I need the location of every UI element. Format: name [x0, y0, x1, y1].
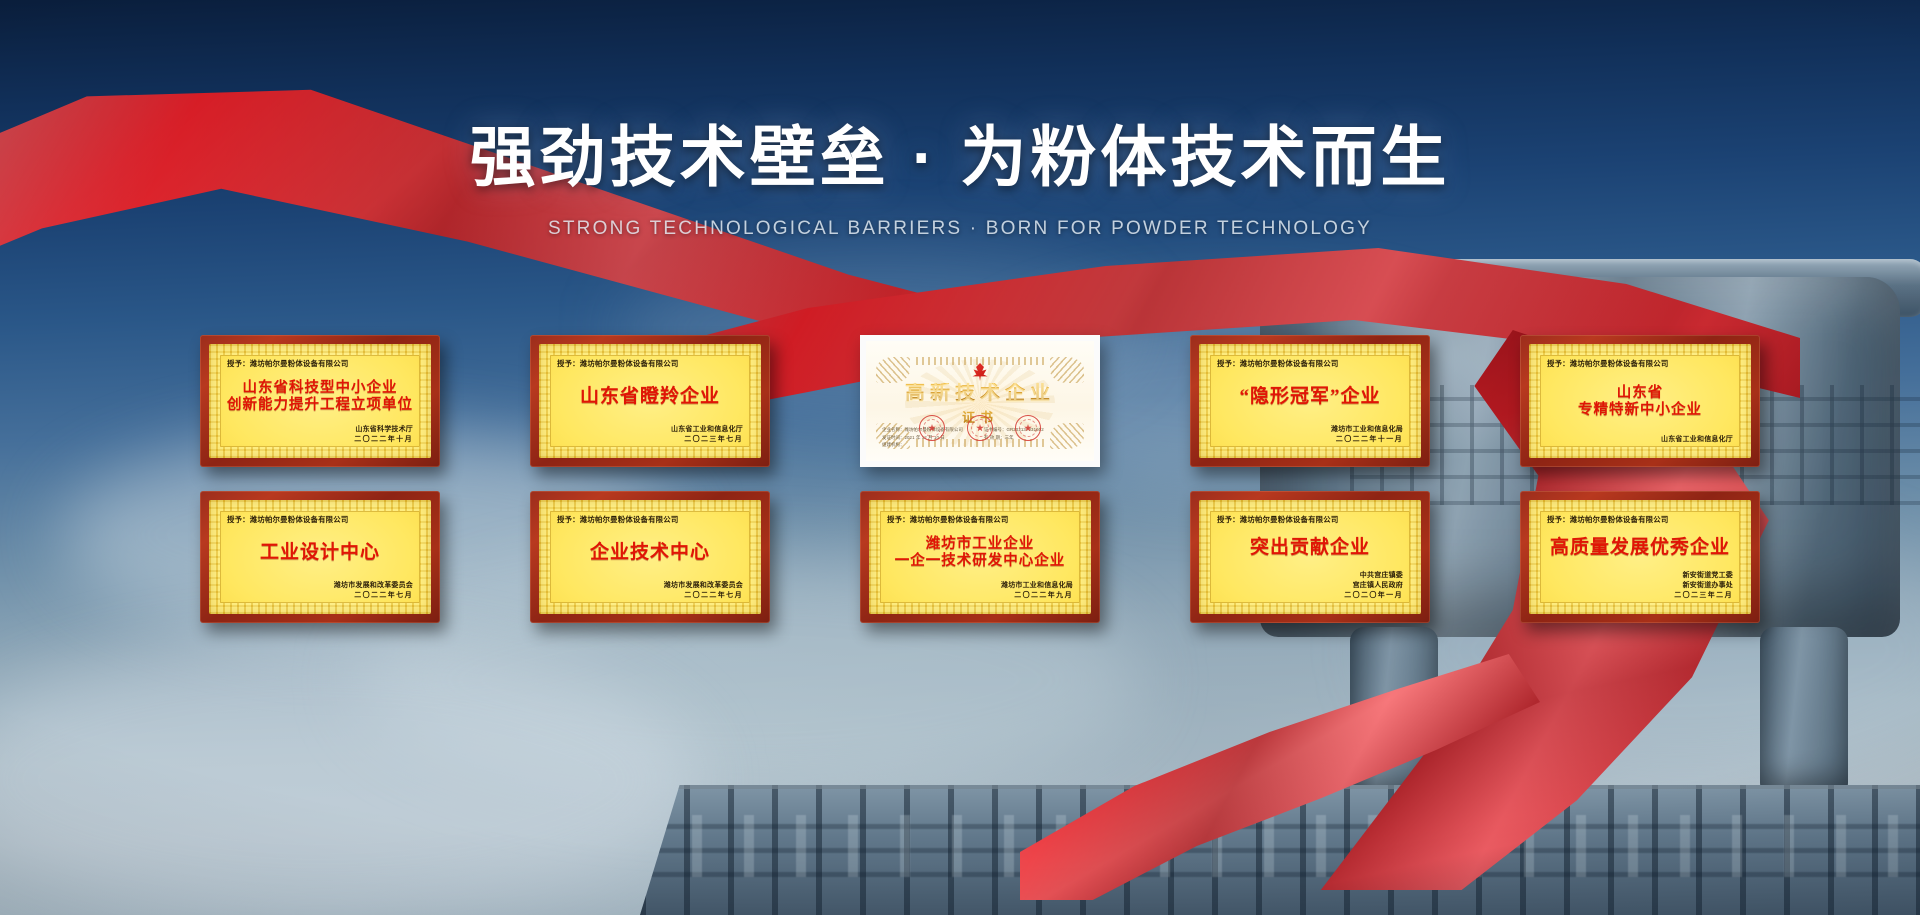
- plaque-date: 二〇二〇年一月: [1217, 591, 1403, 601]
- plaque-plate: 授予：潍坊帕尔曼粉体设备有限公司高质量发展优秀企业新安街道党工委新安街道办事处二…: [1529, 500, 1751, 614]
- plaque-grant-line: 授予：潍坊帕尔曼粉体设备有限公司: [887, 514, 1073, 525]
- plaque-plate: 授予：潍坊帕尔曼粉体设备有限公司企业技术中心潍坊市发展和改革委员会二〇二二年七月: [539, 500, 761, 614]
- plaque-issuer-line: 山东省工业和信息化厅: [557, 425, 743, 435]
- plaque-title-line1: 山东省科技型中小企业: [243, 380, 398, 396]
- plaque-title-line1: “隐形冠军”企业: [1239, 386, 1380, 407]
- award-slot: 授予：潍坊帕尔曼粉体设备有限公司工业设计中心潍坊市发展和改革委员会二〇二二年七月: [200, 491, 440, 623]
- certificate-seals: [866, 415, 1094, 441]
- cloud-shape: [0, 640, 700, 915]
- hero-banner: 强劲技术壁垒 · 为粉体技术而生 STRONG TECHNOLOGICAL BA…: [0, 0, 1920, 915]
- plaque-issuer: 中共宫庄镇委宫庄镇人民政府二〇二〇年一月: [1217, 571, 1403, 601]
- plaque-grant-line: 授予：潍坊帕尔曼粉体设备有限公司: [1217, 514, 1403, 525]
- plaque-date: 二〇二二年九月: [887, 591, 1073, 601]
- award-plaque[interactable]: 授予：潍坊帕尔曼粉体设备有限公司“隐形冠军”企业潍坊市工业和信息化局二〇二二年十…: [1190, 335, 1430, 467]
- plaque-issuer: 新安街道党工委新安街道办事处二〇二三年二月: [1547, 571, 1733, 601]
- plaque-date: 二〇二三年二月: [1547, 591, 1733, 601]
- plaque-issuer: 山东省科学技术厅二〇二二年十月: [227, 425, 413, 445]
- plaque-title: 山东省瞪羚企业: [557, 386, 743, 408]
- plaque-date: 二〇二三年七月: [557, 435, 743, 445]
- plaque-title: 高质量发展优秀企业: [1547, 537, 1733, 559]
- ding-leg: [1760, 627, 1848, 797]
- award-plaque[interactable]: 授予：潍坊帕尔曼粉体设备有限公司山东省科技型中小企业创新能力提升工程立项单位山东…: [200, 335, 440, 467]
- plaque-date: 二〇二二年十月: [227, 435, 413, 445]
- plaque-issuer-line: 新安街道办事处: [1547, 581, 1733, 591]
- plaque-title-line2: 创新能力提升工程立项单位: [227, 397, 413, 414]
- plaque-title: 山东省专精特新中小企业: [1547, 385, 1733, 419]
- award-slot: 授予：潍坊帕尔曼粉体设备有限公司高质量发展优秀企业新安街道党工委新安街道办事处二…: [1520, 491, 1760, 623]
- plaque-title: 潍坊市工业企业一企一技术研发中心企业: [887, 536, 1073, 570]
- awards-row-bottom: 授予：潍坊帕尔曼粉体设备有限公司工业设计中心潍坊市发展和改革委员会二〇二二年七月…: [200, 491, 1760, 623]
- award-slot: 授予：潍坊帕尔曼粉体设备有限公司潍坊市工业企业一企一技术研发中心企业潍坊市工业和…: [860, 491, 1100, 623]
- plaque-title-line1: 山东省: [1617, 385, 1664, 401]
- plaque-plate: 授予：潍坊帕尔曼粉体设备有限公司“隐形冠军”企业潍坊市工业和信息化局二〇二二年十…: [1199, 344, 1421, 458]
- corner-ornament-icon: [1050, 357, 1084, 383]
- plaque-issuer-line: 山东省工业和信息化厅: [1547, 435, 1733, 445]
- plaque-title: “隐形冠军”企业: [1217, 386, 1403, 408]
- plaque-date: 二〇二二年十一月: [1217, 435, 1403, 445]
- plaque-issuer: 潍坊市发展和改革委员会二〇二二年七月: [557, 581, 743, 601]
- stone-plinth: [640, 785, 1920, 915]
- plaque-grant-line: 授予：潍坊帕尔曼粉体设备有限公司: [227, 514, 413, 525]
- certificate-field: [984, 442, 1078, 449]
- plaque-plate: 授予：潍坊帕尔曼粉体设备有限公司潍坊市工业企业一企一技术研发中心企业潍坊市工业和…: [869, 500, 1091, 614]
- plaque-plate: 授予：潍坊帕尔曼粉体设备有限公司山东省瞪羚企业山东省工业和信息化厅二〇二三年七月: [539, 344, 761, 458]
- plaque-plate: 授予：潍坊帕尔曼粉体设备有限公司工业设计中心潍坊市发展和改革委员会二〇二二年七月: [209, 500, 431, 614]
- plaque-title-line1: 企业技术中心: [590, 542, 710, 563]
- plaque-grant-line: 授予：潍坊帕尔曼粉体设备有限公司: [557, 514, 743, 525]
- plaque-issuer-line: 潍坊市工业和信息化局: [887, 581, 1073, 591]
- award-plaque[interactable]: 授予：潍坊帕尔曼粉体设备有限公司工业设计中心潍坊市发展和改革委员会二〇二二年七月: [200, 491, 440, 623]
- plaque-issuer-line: 山东省科学技术厅: [227, 425, 413, 435]
- certificate-paper: 高新技术企业证书企业名称：潍坊帕尔曼粉体设备有限公司证书编号：GR2021370…: [866, 341, 1094, 461]
- awards-grid: 授予：潍坊帕尔曼粉体设备有限公司山东省科技型中小企业创新能力提升工程立项单位山东…: [200, 335, 1760, 623]
- plaque-date: 二〇二二年七月: [557, 591, 743, 601]
- award-plaque[interactable]: 授予：潍坊帕尔曼粉体设备有限公司企业技术中心潍坊市发展和改革委员会二〇二二年七月: [530, 491, 770, 623]
- award-slot: 授予：潍坊帕尔曼粉体设备有限公司“隐形冠军”企业潍坊市工业和信息化局二〇二二年十…: [1190, 335, 1430, 467]
- page-subtitle: STRONG TECHNOLOGICAL BARRIERS · BORN FOR…: [0, 218, 1920, 240]
- plaque-issuer: 潍坊市工业和信息化局二〇二二年十一月: [1217, 425, 1403, 445]
- plaque-title-line1: 突出贡献企业: [1250, 537, 1370, 558]
- certificate-field: 组建机构：: [882, 442, 976, 449]
- award-slot: 高新技术企业证书企业名称：潍坊帕尔曼粉体设备有限公司证书编号：GR2021370…: [860, 335, 1100, 467]
- plaque-title-line1: 工业设计中心: [260, 542, 380, 563]
- plaque-grant-line: 授予：潍坊帕尔曼粉体设备有限公司: [1547, 514, 1733, 525]
- plaque-issuer: 潍坊市发展和改革委员会二〇二二年七月: [227, 581, 413, 601]
- plaque-grant-line: 授予：潍坊帕尔曼粉体设备有限公司: [227, 358, 413, 369]
- plaque-plate: 授予：潍坊帕尔曼粉体设备有限公司突出贡献企业中共宫庄镇委宫庄镇人民政府二〇二〇年…: [1199, 500, 1421, 614]
- plaque-title-line1: 高质量发展优秀企业: [1550, 537, 1730, 558]
- plaque-issuer: 山东省工业和信息化厅二〇二三年七月: [557, 425, 743, 445]
- award-plaque[interactable]: 授予：潍坊帕尔曼粉体设备有限公司潍坊市工业企业一企一技术研发中心企业潍坊市工业和…: [860, 491, 1100, 623]
- awards-row-top: 授予：潍坊帕尔曼粉体设备有限公司山东省科技型中小企业创新能力提升工程立项单位山东…: [200, 335, 1760, 467]
- high-tech-enterprise-certificate[interactable]: 高新技术企业证书企业名称：潍坊帕尔曼粉体设备有限公司证书编号：GR2021370…: [860, 335, 1100, 467]
- plaque-issuer-line: 宫庄镇人民政府: [1217, 581, 1403, 591]
- official-seal-icon: [1015, 415, 1041, 441]
- plaque-issuer-line: 潍坊市发展和改革委员会: [227, 581, 413, 591]
- award-plaque[interactable]: 授予：潍坊帕尔曼粉体设备有限公司高质量发展优秀企业新安街道党工委新安街道办事处二…: [1520, 491, 1760, 623]
- ding-rim: [1234, 259, 1920, 317]
- plaque-issuer-line: 中共宫庄镇委: [1217, 571, 1403, 581]
- plaque-title: 企业技术中心: [557, 542, 743, 564]
- plaque-issuer-line: 潍坊市工业和信息化局: [1217, 425, 1403, 435]
- plaque-plate: 授予：潍坊帕尔曼粉体设备有限公司山东省科技型中小企业创新能力提升工程立项单位山东…: [209, 344, 431, 458]
- award-plaque[interactable]: 授予：潍坊帕尔曼粉体设备有限公司山东省瞪羚企业山东省工业和信息化厅二〇二三年七月: [530, 335, 770, 467]
- headline-block: 强劲技术壁垒 · 为粉体技术而生 STRONG TECHNOLOGICAL BA…: [0, 120, 1920, 240]
- plaque-grant-line: 授予：潍坊帕尔曼粉体设备有限公司: [557, 358, 743, 369]
- plaque-title: 工业设计中心: [227, 542, 413, 564]
- plaque-issuer-line: 新安街道党工委: [1547, 571, 1733, 581]
- official-seal-icon: [919, 415, 945, 441]
- plaque-issuer-line: 潍坊市发展和改革委员会: [557, 581, 743, 591]
- plaque-title-line1: 潍坊市工业企业: [926, 536, 1035, 552]
- corner-ornament-icon: [876, 357, 910, 383]
- plaque-issuer: 山东省工业和信息化厅: [1547, 435, 1733, 445]
- award-plaque[interactable]: 授予：潍坊帕尔曼粉体设备有限公司山东省专精特新中小企业山东省工业和信息化厅: [1520, 335, 1760, 467]
- ding-leg: [1350, 627, 1438, 797]
- plaque-plate: 授予：潍坊帕尔曼粉体设备有限公司山东省专精特新中小企业山东省工业和信息化厅: [1529, 344, 1751, 458]
- certificate-title: 高新技术企业: [866, 383, 1094, 403]
- award-slot: 授予：潍坊帕尔曼粉体设备有限公司山东省科技型中小企业创新能力提升工程立项单位山东…: [200, 335, 440, 467]
- award-slot: 授予：潍坊帕尔曼粉体设备有限公司山东省专精特新中小企业山东省工业和信息化厅: [1520, 335, 1760, 467]
- award-plaque[interactable]: 授予：潍坊帕尔曼粉体设备有限公司突出贡献企业中共宫庄镇委宫庄镇人民政府二〇二〇年…: [1190, 491, 1430, 623]
- award-slot: 授予：潍坊帕尔曼粉体设备有限公司企业技术中心潍坊市发展和改革委员会二〇二二年七月: [530, 491, 770, 623]
- page-title: 强劲技术壁垒 · 为粉体技术而生: [0, 120, 1920, 196]
- plaque-title-line2: 专精特新中小企业: [1547, 402, 1733, 419]
- plaque-grant-line: 授予：潍坊帕尔曼粉体设备有限公司: [1217, 358, 1403, 369]
- official-seal-icon: [967, 415, 993, 441]
- plaque-issuer: 潍坊市工业和信息化局二〇二二年九月: [887, 581, 1073, 601]
- award-slot: 授予：潍坊帕尔曼粉体设备有限公司突出贡献企业中共宫庄镇委宫庄镇人民政府二〇二〇年…: [1190, 491, 1430, 623]
- plaque-title-line1: 山东省瞪羚企业: [580, 386, 720, 407]
- plaque-title: 突出贡献企业: [1217, 537, 1403, 559]
- plaque-date: 二〇二二年七月: [227, 591, 413, 601]
- plaque-title-line2: 一企一技术研发中心企业: [887, 553, 1073, 570]
- plaque-grant-line: 授予：潍坊帕尔曼粉体设备有限公司: [1547, 358, 1733, 369]
- plaque-title: 山东省科技型中小企业创新能力提升工程立项单位: [227, 380, 413, 414]
- award-slot: 授予：潍坊帕尔曼粉体设备有限公司山东省瞪羚企业山东省工业和信息化厅二〇二三年七月: [530, 335, 770, 467]
